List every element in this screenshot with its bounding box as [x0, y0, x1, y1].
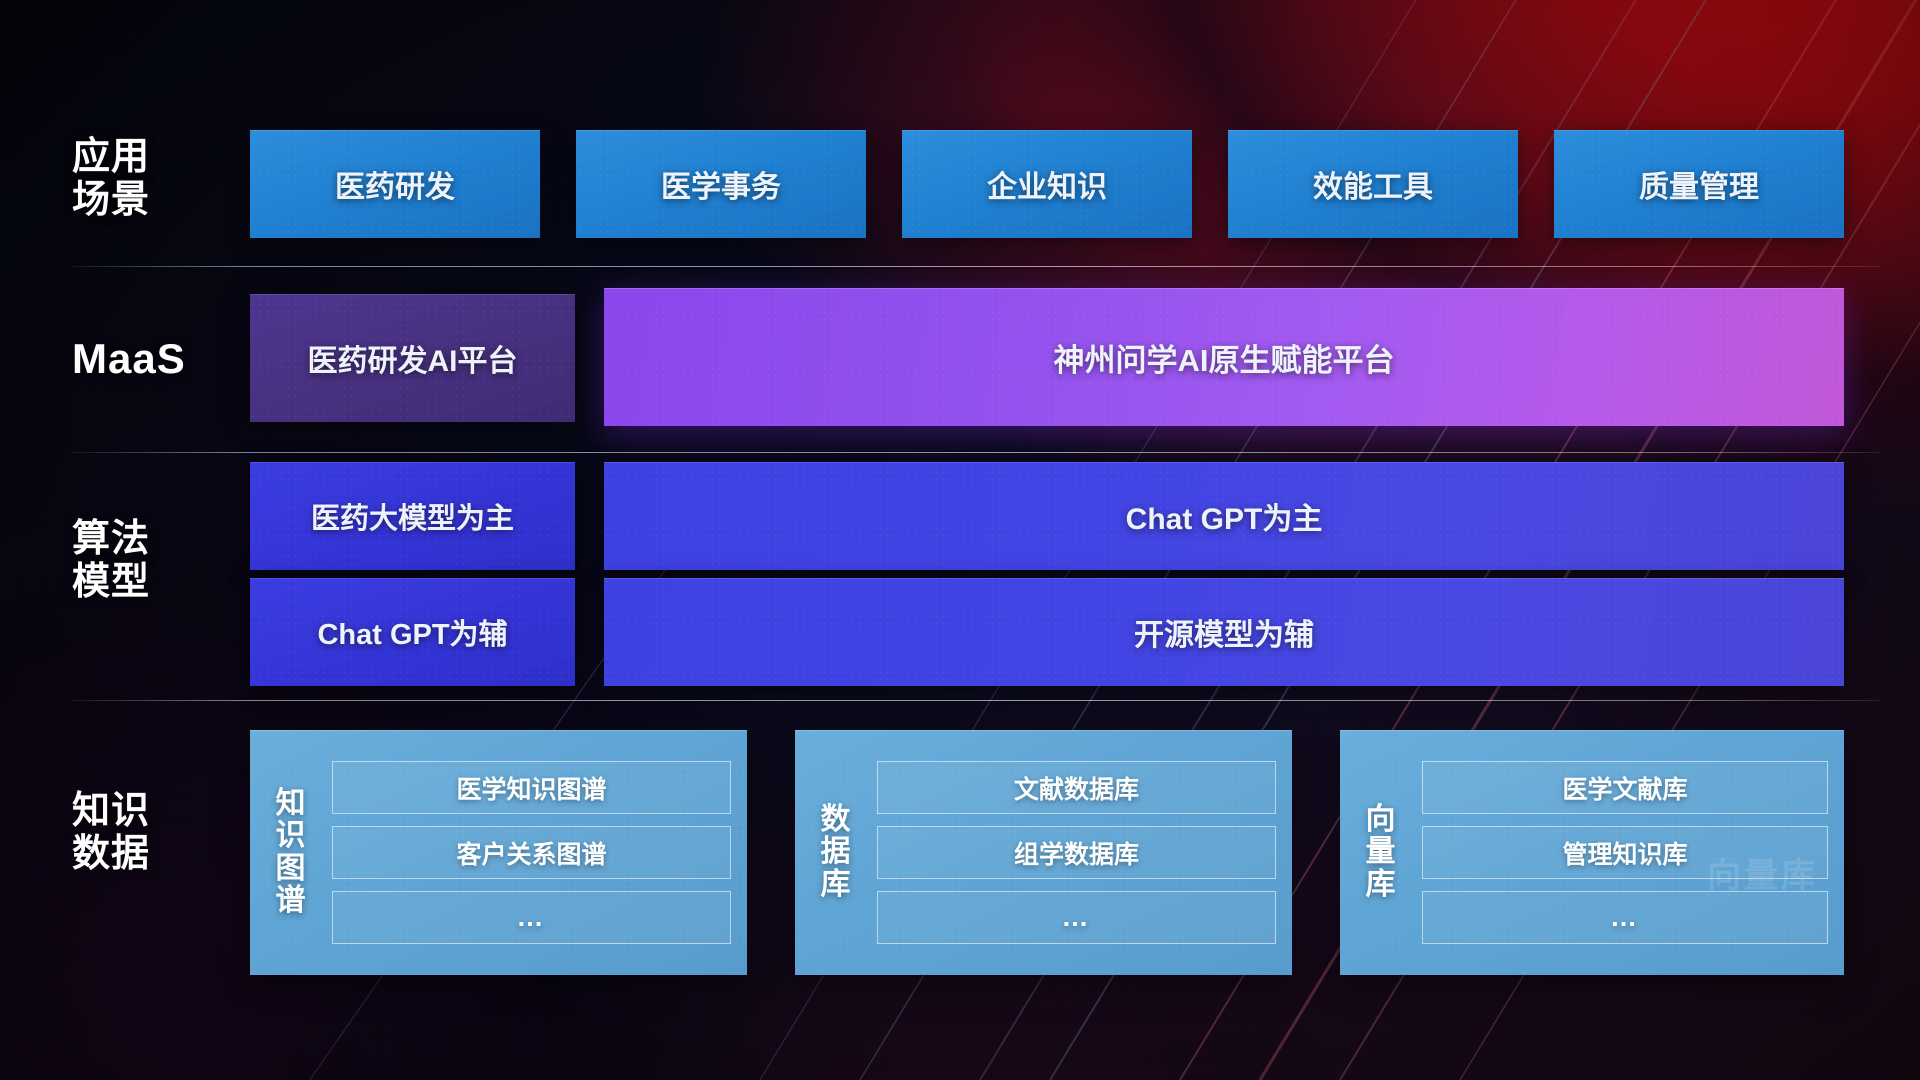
algo-card-chatgpt-primary-label: Chat GPT为主: [1126, 494, 1323, 538]
app-card-efficiency-tools[interactable]: 效能工具: [1228, 130, 1518, 238]
algo-card-opensource-secondary-label: 开源模型为辅: [1134, 610, 1314, 654]
app-card-medical-affairs-label: 医学事务: [661, 162, 781, 206]
knowledge-group-graph[interactable]: 知识图谱 医学知识图谱 客户关系图谱 …: [250, 730, 747, 975]
app-card-quality-management-label: 质量管理: [1639, 162, 1759, 206]
knowledge-group-graph-title: 知识图谱: [260, 788, 322, 918]
row-label-knowledge: 知识 数据: [72, 790, 204, 877]
algo-card-opensource-secondary[interactable]: 开源模型为辅: [604, 578, 1844, 686]
knowledge-item-customer-graph[interactable]: 客户关系图谱: [332, 826, 731, 879]
app-card-enterprise-knowledge-label: 企业知识: [987, 162, 1107, 206]
knowledge-group-title-char: 向: [1366, 804, 1397, 836]
knowledge-item-medical-literature[interactable]: 医学文献库: [1422, 761, 1828, 814]
knowledge-group-database[interactable]: 数据库 文献数据库 组学数据库 …: [795, 730, 1292, 975]
row-label-knowledge-line2: 数据: [72, 833, 204, 876]
knowledge-item-omics-db[interactable]: 组学数据库: [877, 826, 1276, 879]
knowledge-group-title-char: 识: [276, 820, 307, 852]
maas-card-shenzhou-wenxue-platform[interactable]: 神州问学AI原生赋能平台: [604, 288, 1844, 426]
knowledge-group-title-char: 谱: [276, 885, 307, 917]
knowledge-group-vector-items: 医学文献库 管理知识库 …: [1422, 761, 1828, 944]
knowledge-group-title-char: 图: [276, 853, 307, 885]
row-label-application-bottom: 场景: [72, 179, 172, 222]
divider-maas-algorithm: [72, 452, 1880, 453]
app-card-quality-management[interactable]: 质量管理: [1554, 130, 1844, 238]
knowledge-item-database-more[interactable]: …: [877, 891, 1276, 944]
divider-application-maas: [72, 266, 1880, 267]
app-card-efficiency-tools-label: 效能工具: [1313, 162, 1433, 206]
knowledge-group-title-char: 数: [821, 804, 852, 836]
app-card-medicine-rd[interactable]: 医药研发: [250, 130, 540, 238]
app-card-medical-affairs[interactable]: 医学事务: [576, 130, 866, 238]
knowledge-group-database-title: 数据库: [805, 804, 867, 901]
knowledge-item-graph-more[interactable]: …: [332, 891, 731, 944]
row-label-maas-text: MaaS: [72, 335, 186, 382]
knowledge-item-literature-db[interactable]: 文献数据库: [877, 761, 1276, 814]
architecture-diagram: 应用场景 医药研发 医学事务 企业知识 效能工具 质量管理 MaaS 医药研发A…: [0, 0, 1920, 1080]
divider-algorithm-knowledge: [72, 700, 1880, 701]
algo-card-pharma-llm-primary-label: 医药大模型为主: [311, 495, 514, 537]
row-label-maas: MaaS: [72, 335, 204, 383]
maas-card-pharma-ai-platform-label: 医药研发AI平台: [308, 336, 518, 380]
knowledge-item-medical-graph[interactable]: 医学知识图谱: [332, 761, 731, 814]
knowledge-group-title-char: 据: [821, 836, 852, 868]
row-label-algorithm-line1: 算法: [72, 518, 204, 561]
row-label-application: 应用场景: [72, 136, 204, 223]
app-card-enterprise-knowledge[interactable]: 企业知识: [902, 130, 1192, 238]
row-label-knowledge-line1: 知识: [72, 790, 204, 833]
knowledge-group-graph-items: 医学知识图谱 客户关系图谱 …: [332, 761, 731, 944]
knowledge-group-title-char: 库: [1366, 869, 1397, 901]
row-label-algorithm-line2: 模型: [72, 561, 204, 604]
knowledge-item-management-knowledge[interactable]: 管理知识库: [1422, 826, 1828, 879]
algo-card-chatgpt-secondary-label: Chat GPT为辅: [317, 611, 507, 653]
knowledge-group-vector-title: 向量库: [1350, 804, 1412, 901]
maas-card-pharma-ai-platform[interactable]: 医药研发AI平台: [250, 294, 575, 422]
app-card-medicine-rd-label: 医药研发: [335, 162, 455, 206]
row-label-application-top: 应用: [72, 136, 172, 179]
knowledge-group-title-char: 知: [276, 788, 307, 820]
row-label-algorithm: 算法 模型: [72, 518, 204, 605]
algo-card-chatgpt-primary[interactable]: Chat GPT为主: [604, 462, 1844, 570]
knowledge-item-vector-more[interactable]: …: [1422, 891, 1828, 944]
algo-card-chatgpt-secondary[interactable]: Chat GPT为辅: [250, 578, 575, 686]
knowledge-group-title-char: 库: [821, 869, 852, 901]
row-label-application-line1: 应用场景: [72, 136, 172, 223]
algo-card-pharma-llm-primary[interactable]: 医药大模型为主: [250, 462, 575, 570]
knowledge-group-database-items: 文献数据库 组学数据库 …: [877, 761, 1276, 944]
maas-card-shenzhou-wenxue-platform-label: 神州问学AI原生赋能平台: [1054, 335, 1395, 380]
knowledge-group-title-char: 量: [1366, 836, 1397, 868]
knowledge-group-vector[interactable]: 向量库 医学文献库 管理知识库 … 向量库: [1340, 730, 1844, 975]
